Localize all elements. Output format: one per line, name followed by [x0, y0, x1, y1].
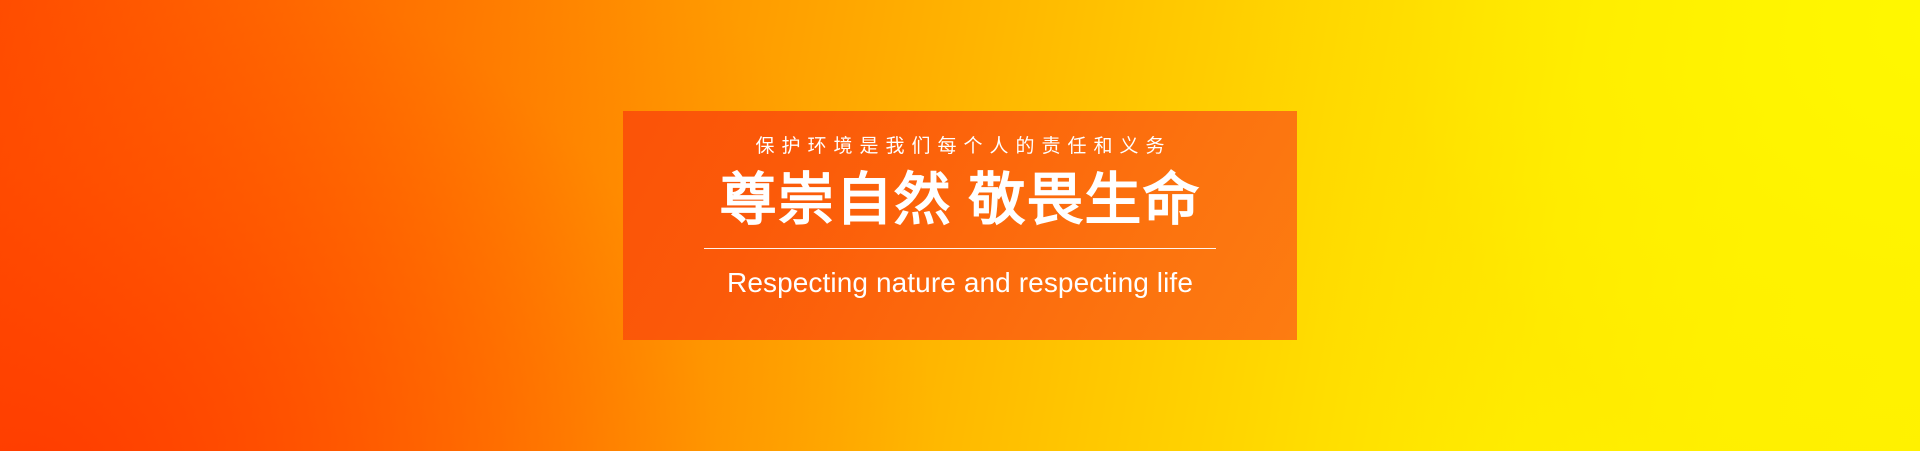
banner-subtitle-english: Respecting nature and respecting life	[727, 269, 1193, 297]
content-panel: 保护环境是我们每个人的责任和义务 尊崇自然 敬畏生命 Respecting na…	[623, 111, 1297, 340]
environmental-banner: 保护环境是我们每个人的责任和义务 尊崇自然 敬畏生命 Respecting na…	[0, 0, 1920, 451]
banner-eyebrow-text: 保护环境是我们每个人的责任和义务	[748, 137, 1171, 156]
headline-divider	[704, 248, 1216, 249]
banner-headline: 尊崇自然 敬畏生命	[720, 172, 1201, 229]
